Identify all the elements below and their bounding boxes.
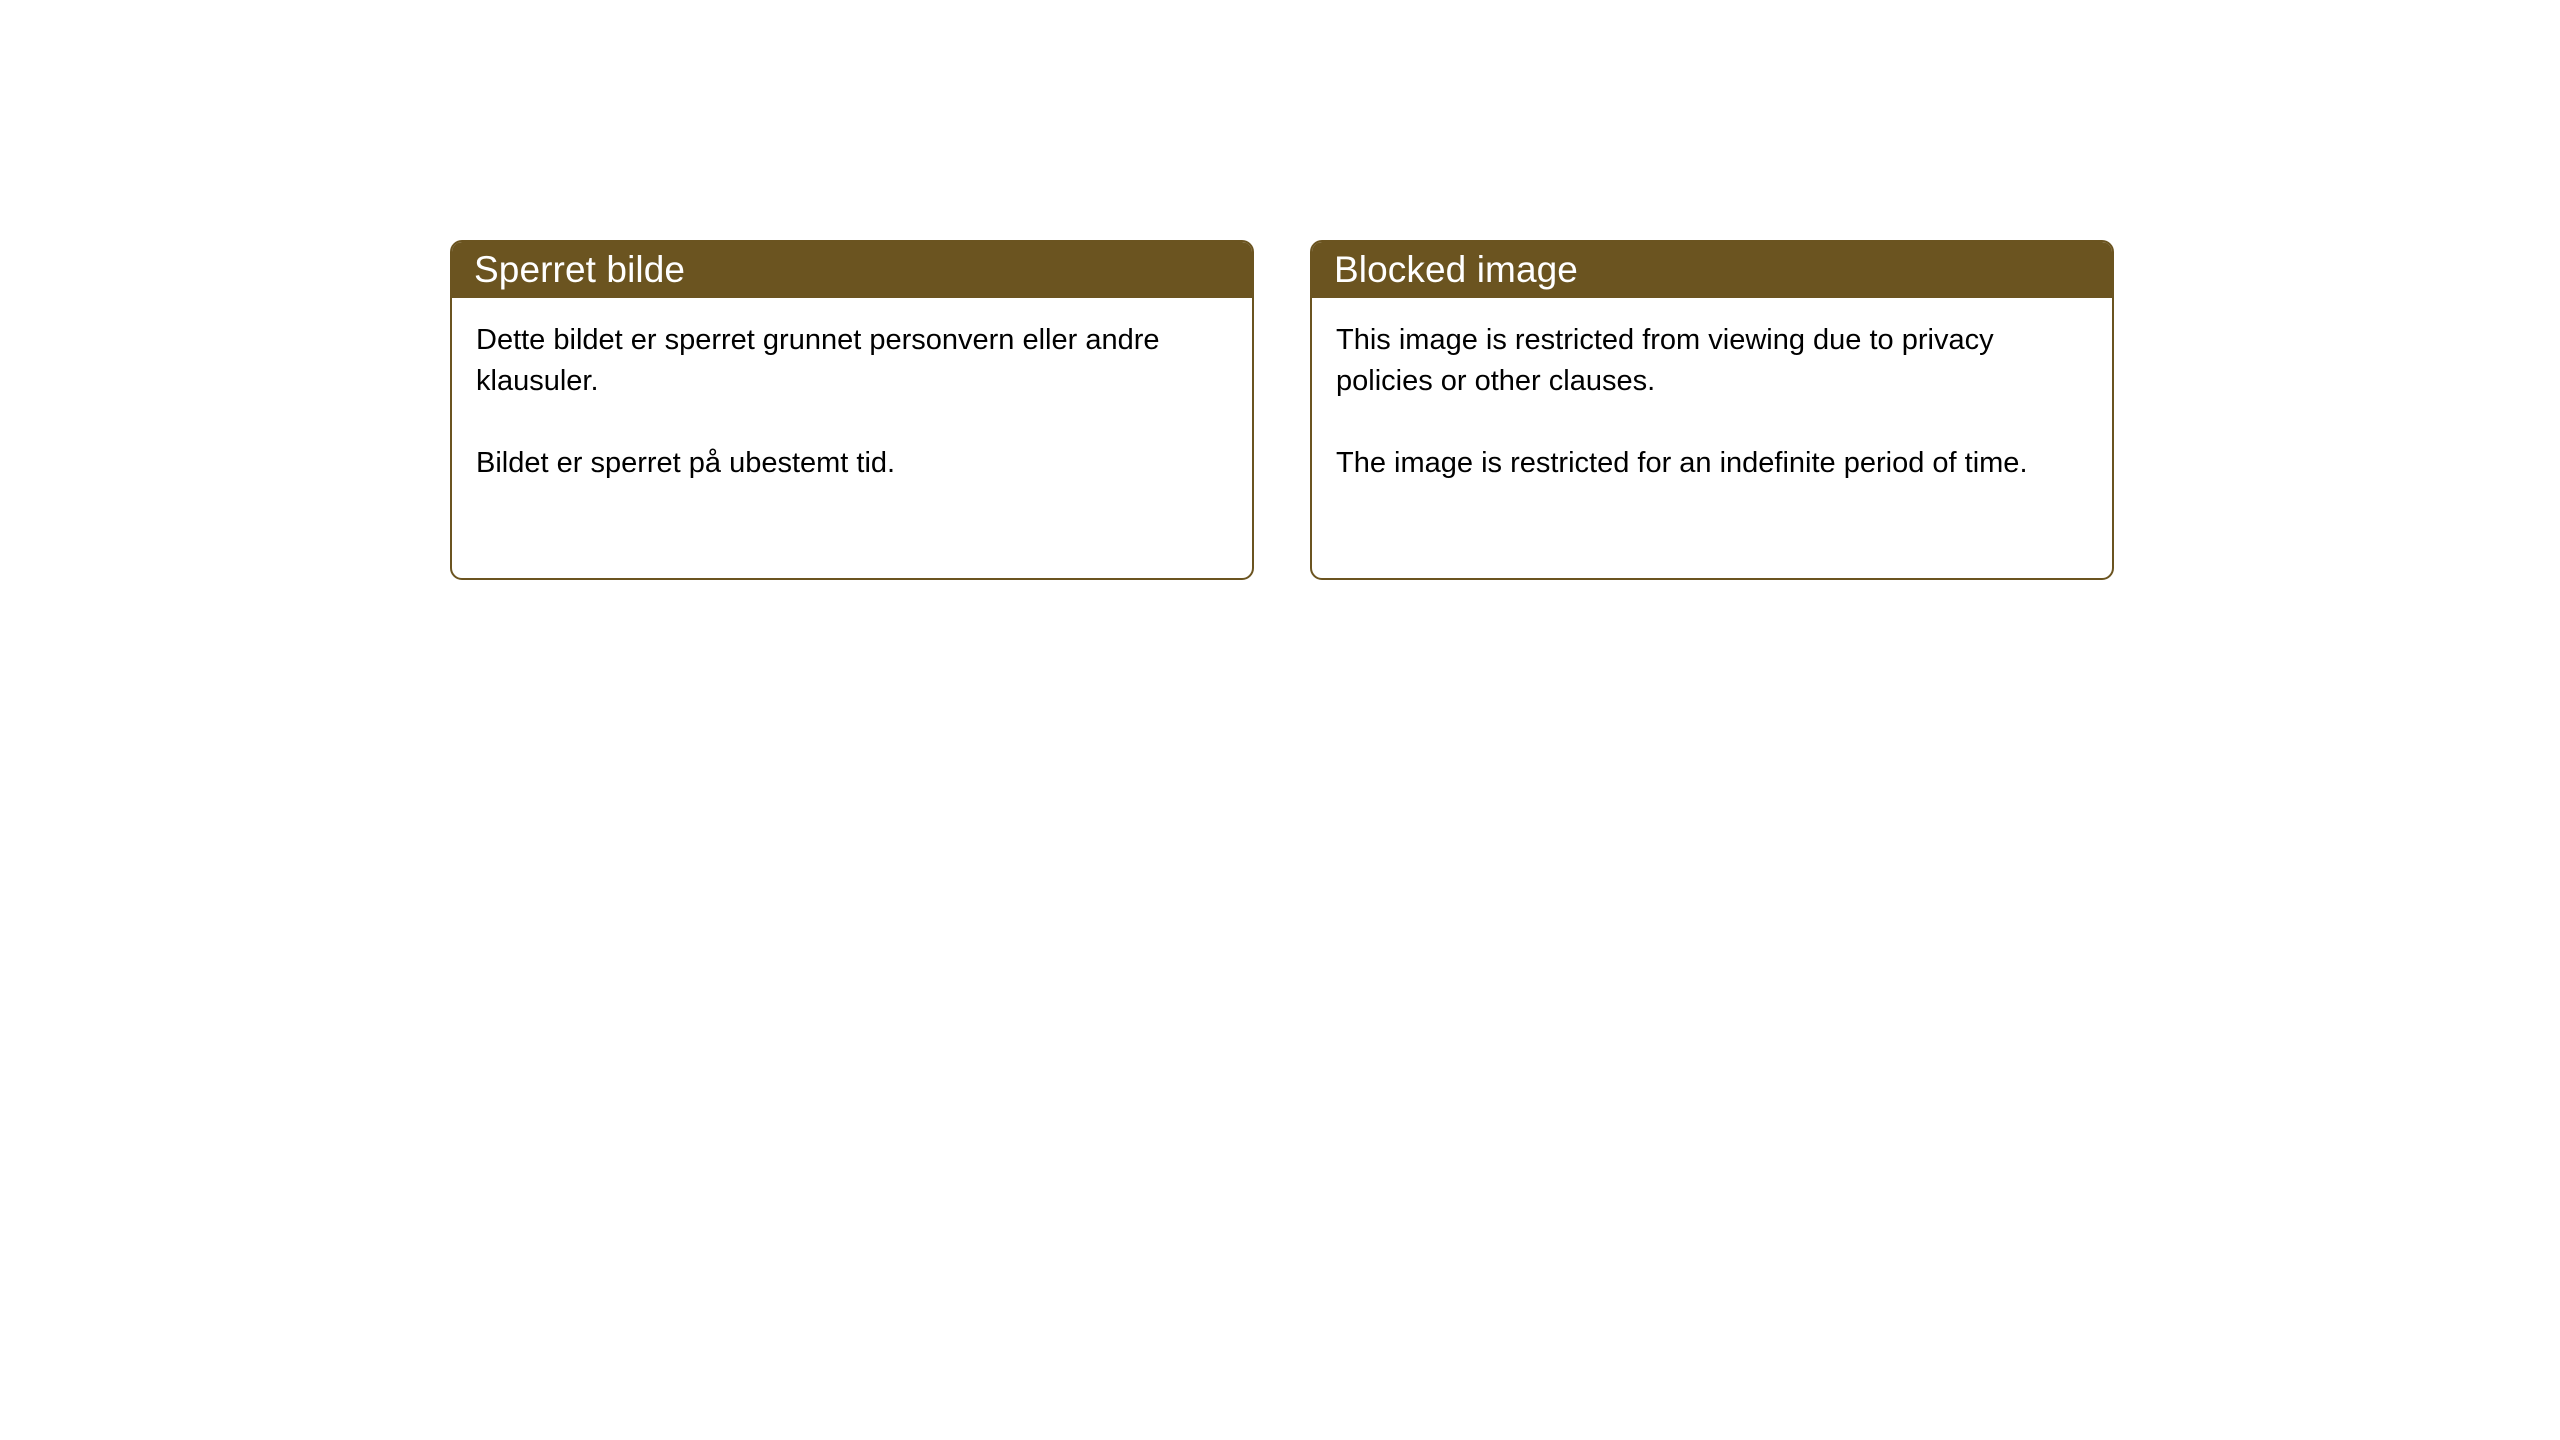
blocked-image-notice-card-norwegian: Sperret bilde Dette bildet er sperret gr…	[450, 240, 1254, 580]
blocked-image-notice-card-english: Blocked image This image is restricted f…	[1310, 240, 2114, 580]
card-title: Blocked image	[1334, 251, 1578, 288]
card-title: Sperret bilde	[474, 251, 685, 288]
paragraph-spacer	[1336, 402, 2088, 443]
card-header: Sperret bilde	[450, 240, 1254, 298]
page-root: Sperret bilde Dette bildet er sperret gr…	[0, 0, 2560, 1440]
card-paragraph-secondary: Bildet er sperret på ubestemt tid.	[476, 443, 1228, 484]
card-paragraph-secondary: The image is restricted for an indefinit…	[1336, 443, 2088, 484]
card-header: Blocked image	[1310, 240, 2114, 298]
card-body: Dette bildet er sperret grunnet personve…	[452, 298, 1252, 484]
paragraph-spacer	[476, 402, 1228, 443]
card-paragraph-primary: Dette bildet er sperret grunnet personve…	[476, 320, 1228, 402]
card-body: This image is restricted from viewing du…	[1312, 298, 2112, 484]
card-paragraph-primary: This image is restricted from viewing du…	[1336, 320, 2088, 402]
